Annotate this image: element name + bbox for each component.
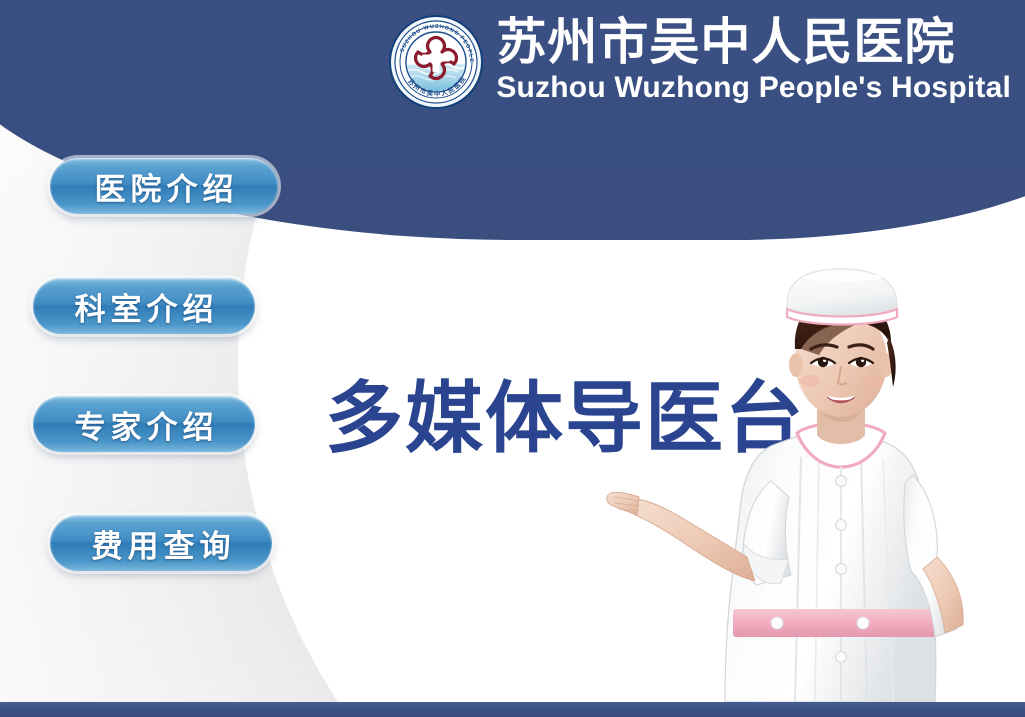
- sidebar-nav: 医院介绍 科室介绍 专家介绍 费用查询: [0, 0, 300, 717]
- sidebar-item-label: 专家介绍: [70, 402, 219, 447]
- sidebar-item-label: 科室介绍: [70, 284, 219, 329]
- sidebar-item-expert-intro[interactable]: 专家介绍: [33, 396, 255, 452]
- sidebar-item-label: 费用查询: [87, 521, 236, 566]
- sidebar-item-label: 医院介绍: [90, 164, 239, 209]
- kiosk-welcome-screen: SUZHOU WUZHONG PEOPLE'S HOSPITAL 苏州市吴中人民…: [0, 0, 1025, 717]
- hospital-name-en: Suzhou Wuzhong People's Hospital: [496, 73, 1011, 103]
- sidebar-item-hospital-intro[interactable]: 医院介绍: [50, 158, 278, 214]
- hospital-emblem-icon: SUZHOU WUZHONG PEOPLE'S HOSPITAL 苏州市吴中人民…: [388, 14, 484, 110]
- nurse-greeting-photo: [605, 257, 1025, 702]
- brand-block: 苏州市吴中人民医院 Suzhou Wuzhong People's Hospit…: [496, 17, 1011, 103]
- sidebar-item-department-intro[interactable]: 科室介绍: [33, 278, 255, 334]
- footer-bar: [0, 702, 1025, 717]
- hospital-name-cn: 苏州市吴中人民医院: [496, 17, 955, 67]
- sidebar-item-fee-inquiry[interactable]: 费用查询: [50, 515, 272, 571]
